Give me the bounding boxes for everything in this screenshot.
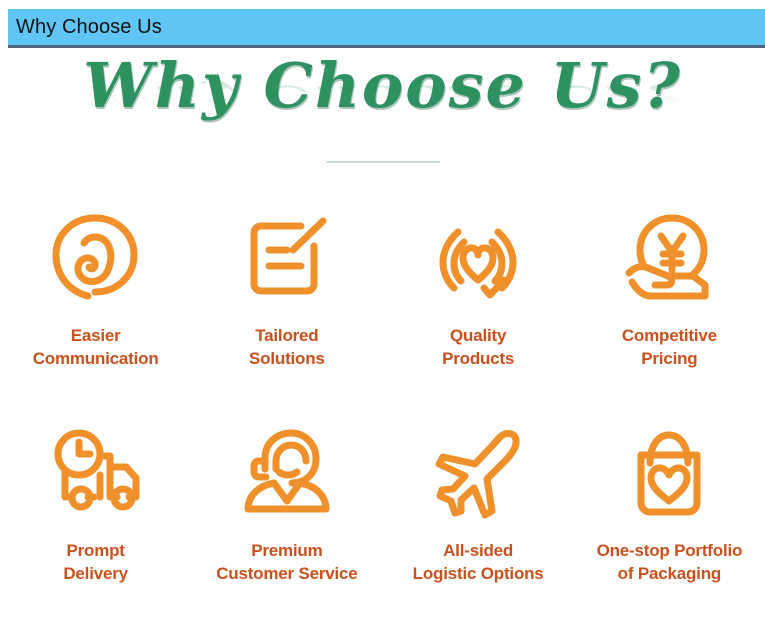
feature-item-all-sided-logistic-options[interactable]: All-sided Logistic Options <box>383 412 574 627</box>
document-pencil-icon <box>239 197 335 319</box>
heart-waves-check-icon <box>430 197 526 319</box>
feature-label: Premium Customer Service <box>216 540 357 586</box>
feature-item-easier-communication[interactable]: Easier Communication <box>0 197 191 412</box>
feature-item-prompt-delivery[interactable]: Prompt Delivery <box>0 412 191 627</box>
feature-item-competitive-pricing[interactable]: Competitive Pricing <box>574 197 765 412</box>
feature-label: Tailored Solutions <box>249 325 325 371</box>
shopping-bag-heart-icon <box>621 412 717 534</box>
feature-item-premium-customer-service[interactable]: Premium Customer Service <box>191 412 382 627</box>
window-header-bar: Why Choose Us <box>8 9 765 48</box>
page-title: Why Choose Us <box>8 16 162 39</box>
feature-label: Prompt Delivery <box>63 540 128 586</box>
airplane-icon <box>430 412 526 534</box>
hand-yen-coin-icon <box>621 197 717 319</box>
truck-clock-icon <box>48 412 144 534</box>
feature-label: Competitive Pricing <box>622 325 717 371</box>
feature-grid: Easier Communication Tailored Solutions <box>0 197 765 627</box>
headset-person-icon <box>239 412 335 534</box>
feature-item-tailored-solutions[interactable]: Tailored Solutions <box>191 197 382 412</box>
feature-label: All-sided Logistic Options <box>413 540 544 586</box>
feature-label: Easier Communication <box>33 325 159 371</box>
hero-divider <box>326 161 440 163</box>
feature-label: Quality Products <box>442 325 514 371</box>
hero-title: Why Choose Us? <box>83 55 682 117</box>
hero-section: Why Choose Us? Why Choose Us? <box>0 55 765 173</box>
ear-in-circle-icon <box>48 197 144 319</box>
hero-title-block: Why Choose Us? Why Choose Us? <box>83 55 682 173</box>
feature-label: One-stop Portfolio of Packaging <box>597 540 743 586</box>
feature-item-one-stop-portfolio[interactable]: One-stop Portfolio of Packaging <box>574 412 765 627</box>
feature-item-quality-products[interactable]: Quality Products <box>383 197 574 412</box>
